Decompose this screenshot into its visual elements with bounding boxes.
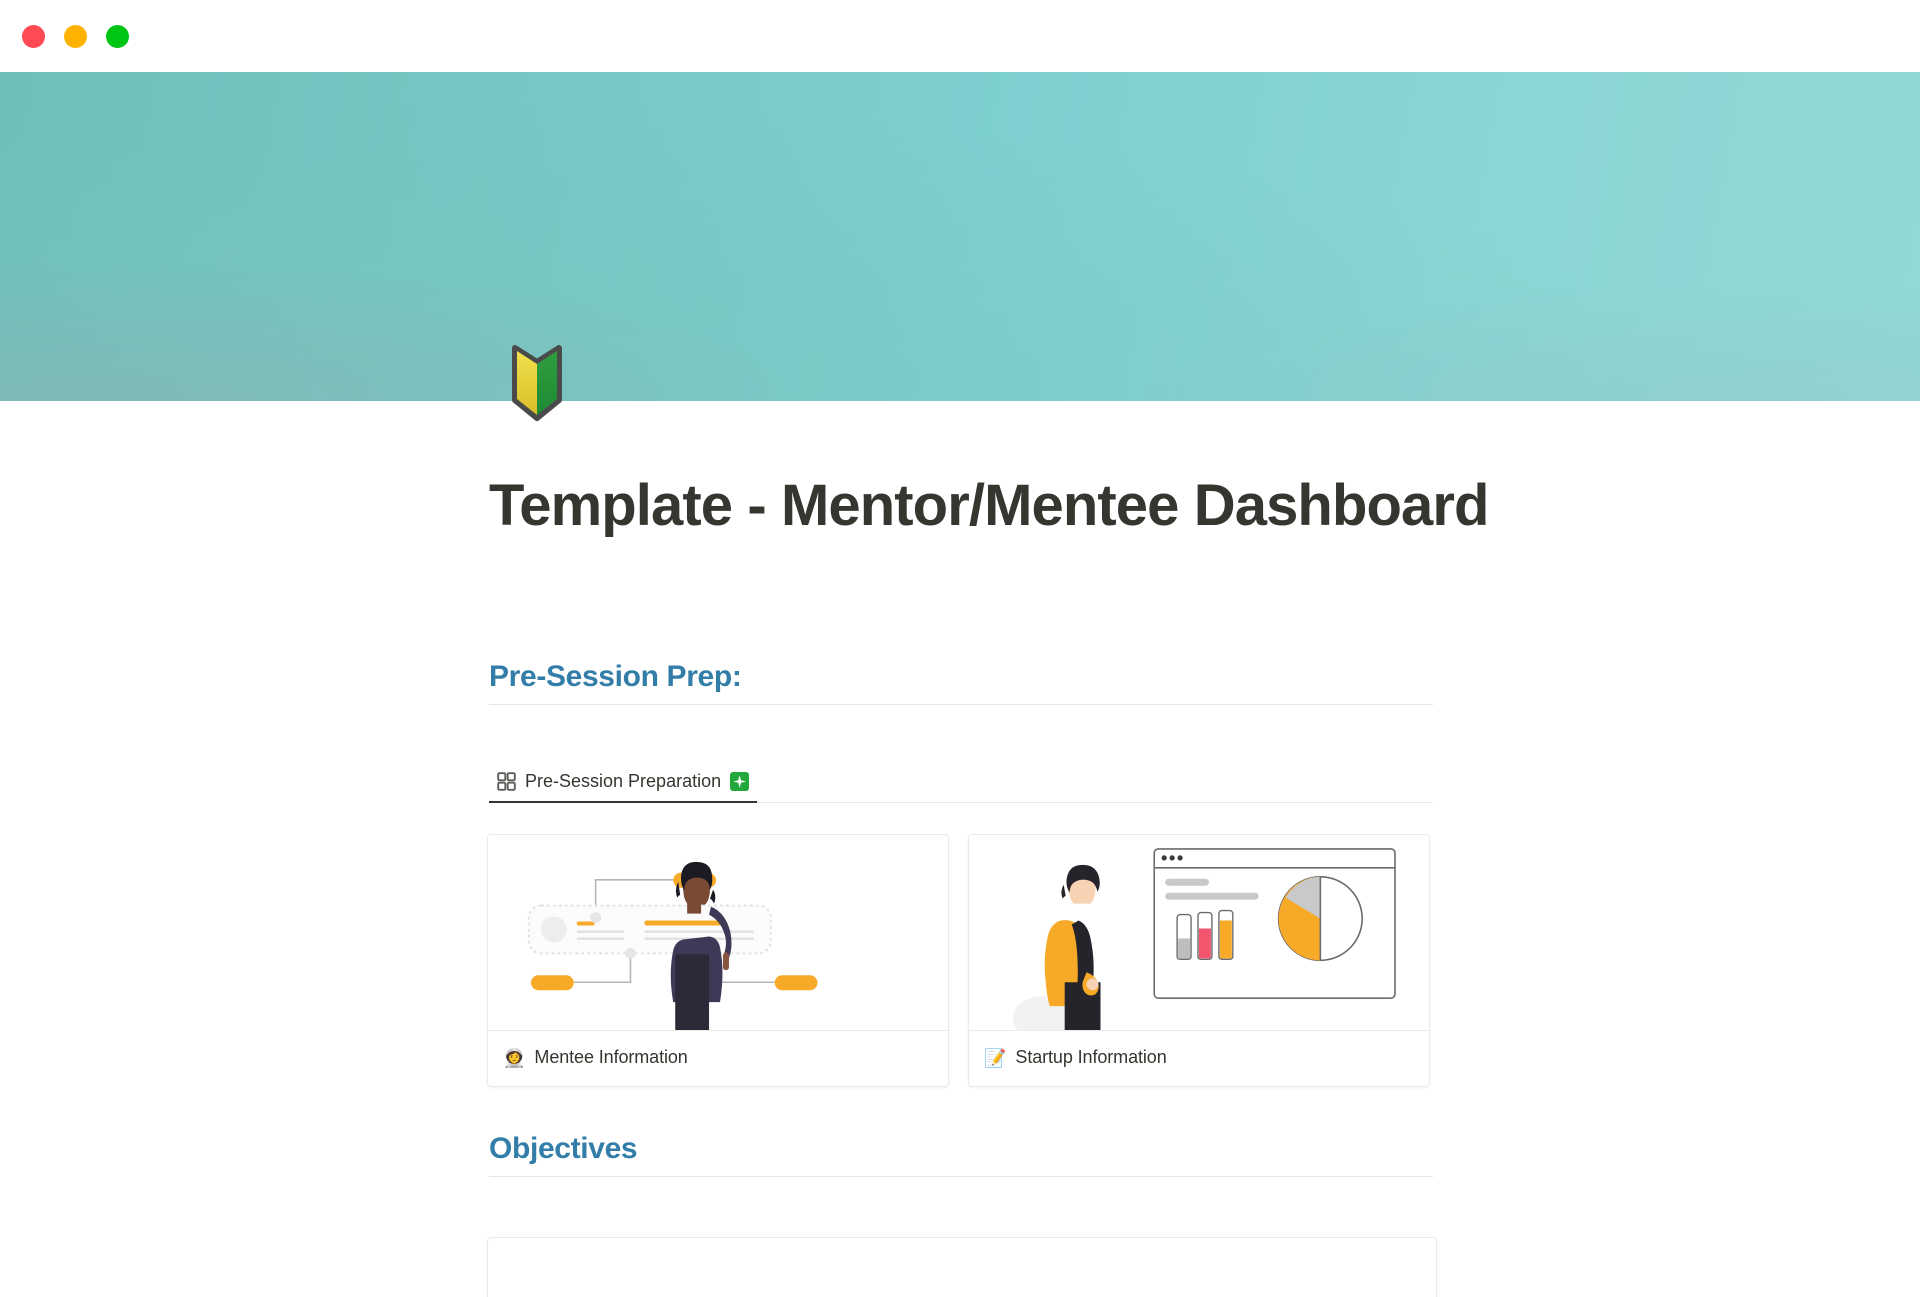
woman-astronaut-emoji-icon: 👩‍🚀 bbox=[503, 1049, 525, 1067]
memo-emoji-icon: 📝 bbox=[984, 1049, 1006, 1067]
gallery-grid-icon bbox=[497, 772, 516, 791]
close-window-button[interactable] bbox=[22, 25, 45, 48]
zoom-window-button[interactable] bbox=[106, 25, 129, 48]
database-tab-label: Pre-Session Preparation bbox=[525, 771, 721, 792]
page-body: Template - Mentor/Mentee Dashboard Pre-S… bbox=[0, 72, 1920, 1200]
card-illustration-person-with-analytics-window-icon bbox=[969, 835, 1429, 1031]
objectives-database-block[interactable] bbox=[487, 1237, 1437, 1297]
section-heading-pre-session-prep: Pre-Session Prep: bbox=[489, 657, 1433, 705]
database-tab-pre-session-preparation[interactable]: Pre-Session Preparation bbox=[489, 765, 757, 802]
database-view-tabs: Pre-Session Preparation bbox=[489, 765, 1433, 803]
section-heading-text[interactable]: Pre-Session Prep: bbox=[489, 657, 1433, 704]
gallery-card-startup-information[interactable]: 📝 Startup Information bbox=[968, 834, 1430, 1087]
section-heading-objectives: Objectives bbox=[489, 1129, 1433, 1177]
card-illustration-person-with-dashboard-icon bbox=[488, 835, 948, 1031]
page-icon-beginner-shield-icon[interactable] bbox=[497, 342, 577, 422]
gallery-card-mentee-information[interactable]: 👩‍🚀 Mentee Information bbox=[487, 834, 949, 1087]
section-divider bbox=[489, 1176, 1433, 1177]
minimize-window-button[interactable] bbox=[64, 25, 87, 48]
card-title-startup-information: Startup Information bbox=[1015, 1047, 1166, 1068]
green-sparkle-icon bbox=[730, 772, 749, 791]
page-title[interactable]: Template - Mentor/Mentee Dashboard bbox=[489, 472, 1489, 540]
card-title-mentee-information: Mentee Information bbox=[534, 1047, 687, 1068]
card-footer: 📝 Startup Information bbox=[969, 1031, 1429, 1086]
window-titlebar bbox=[0, 0, 1920, 72]
traffic-lights bbox=[22, 25, 129, 48]
section-divider bbox=[489, 704, 1433, 705]
section-heading-text[interactable]: Objectives bbox=[489, 1129, 1433, 1176]
gallery-card-list: 👩‍🚀 Mentee Information bbox=[487, 834, 1437, 1087]
card-footer: 👩‍🚀 Mentee Information bbox=[488, 1031, 948, 1086]
